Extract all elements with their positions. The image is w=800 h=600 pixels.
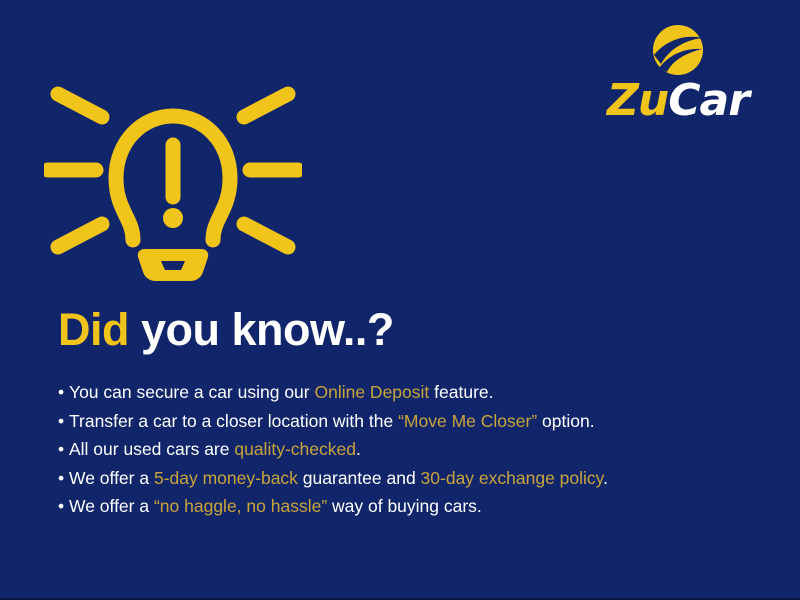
highlight-phrase: “no haggle, no hassle” xyxy=(154,496,327,516)
highlight-phrase: “Move Me Closer” xyxy=(398,411,537,431)
plain-phrase: You can secure a car using our xyxy=(69,382,314,402)
bullet-dot-icon: • xyxy=(58,464,69,493)
heading-gold-word: Did xyxy=(58,304,129,355)
ray-lower-right xyxy=(244,224,288,247)
zucar-circle-emblem xyxy=(652,24,704,76)
heading-white-words: you know..? xyxy=(129,304,394,355)
plain-phrase: . xyxy=(356,439,361,459)
bullet-dot-icon: • xyxy=(58,378,69,407)
list-item-text: All our used cars are quality-checked. xyxy=(69,435,361,464)
plain-phrase: option. xyxy=(537,411,594,431)
fact-bullet-list: •You can secure a car using our Online D… xyxy=(58,378,758,521)
zucar-logo: ZuCar xyxy=(588,24,768,116)
ray-upper-right xyxy=(244,94,288,117)
page-title: Did you know..? xyxy=(58,303,394,357)
plain-phrase: Transfer a car to a closer location with… xyxy=(69,411,398,431)
list-item: •You can secure a car using our Online D… xyxy=(58,378,758,407)
exclamation-dot xyxy=(163,208,183,228)
plain-phrase: We offer a xyxy=(69,496,154,516)
plain-phrase: feature. xyxy=(429,382,493,402)
plain-phrase: way of buying cars. xyxy=(327,496,482,516)
zucar-wordmark: ZuCar xyxy=(588,78,768,124)
bullet-dot-icon: • xyxy=(58,435,69,464)
highlight-phrase: Online Deposit xyxy=(314,382,429,402)
ray-lower-left xyxy=(58,224,102,247)
bullet-dot-icon: • xyxy=(58,407,69,436)
list-item: •We offer a “no haggle, no hassle” way o… xyxy=(58,492,758,521)
list-item: •We offer a 5-day money-back guarantee a… xyxy=(58,464,758,493)
list-item-text: You can secure a car using our Online De… xyxy=(69,378,494,407)
plain-phrase: All our used cars are xyxy=(69,439,234,459)
plain-phrase: We offer a xyxy=(69,468,154,488)
bulb-base xyxy=(138,249,208,281)
list-item: •Transfer a car to a closer location wit… xyxy=(58,407,758,436)
logo-text-car: Car xyxy=(668,75,749,126)
ray-upper-left xyxy=(58,94,102,117)
list-item-text: We offer a “no haggle, no hassle” way of… xyxy=(69,492,482,521)
logo-text-zu: Zu xyxy=(607,75,668,126)
bullet-dot-icon: • xyxy=(58,492,69,521)
plain-phrase: . xyxy=(603,468,608,488)
list-item-text: Transfer a car to a closer location with… xyxy=(69,407,595,436)
highlight-phrase: 5-day money-back xyxy=(154,468,298,488)
list-item-text: We offer a 5-day money-back guarantee an… xyxy=(69,464,608,493)
lightbulb-icon-svg xyxy=(44,72,302,287)
highlight-phrase: 30-day exchange policy xyxy=(421,468,604,488)
list-item: •All our used cars are quality-checked. xyxy=(58,435,758,464)
lightbulb-exclamation-icon xyxy=(44,72,302,287)
slide-canvas: ZuCar Did you know..? xyxy=(0,0,800,600)
plain-phrase: guarantee and xyxy=(298,468,421,488)
highlight-phrase: quality-checked xyxy=(234,439,356,459)
